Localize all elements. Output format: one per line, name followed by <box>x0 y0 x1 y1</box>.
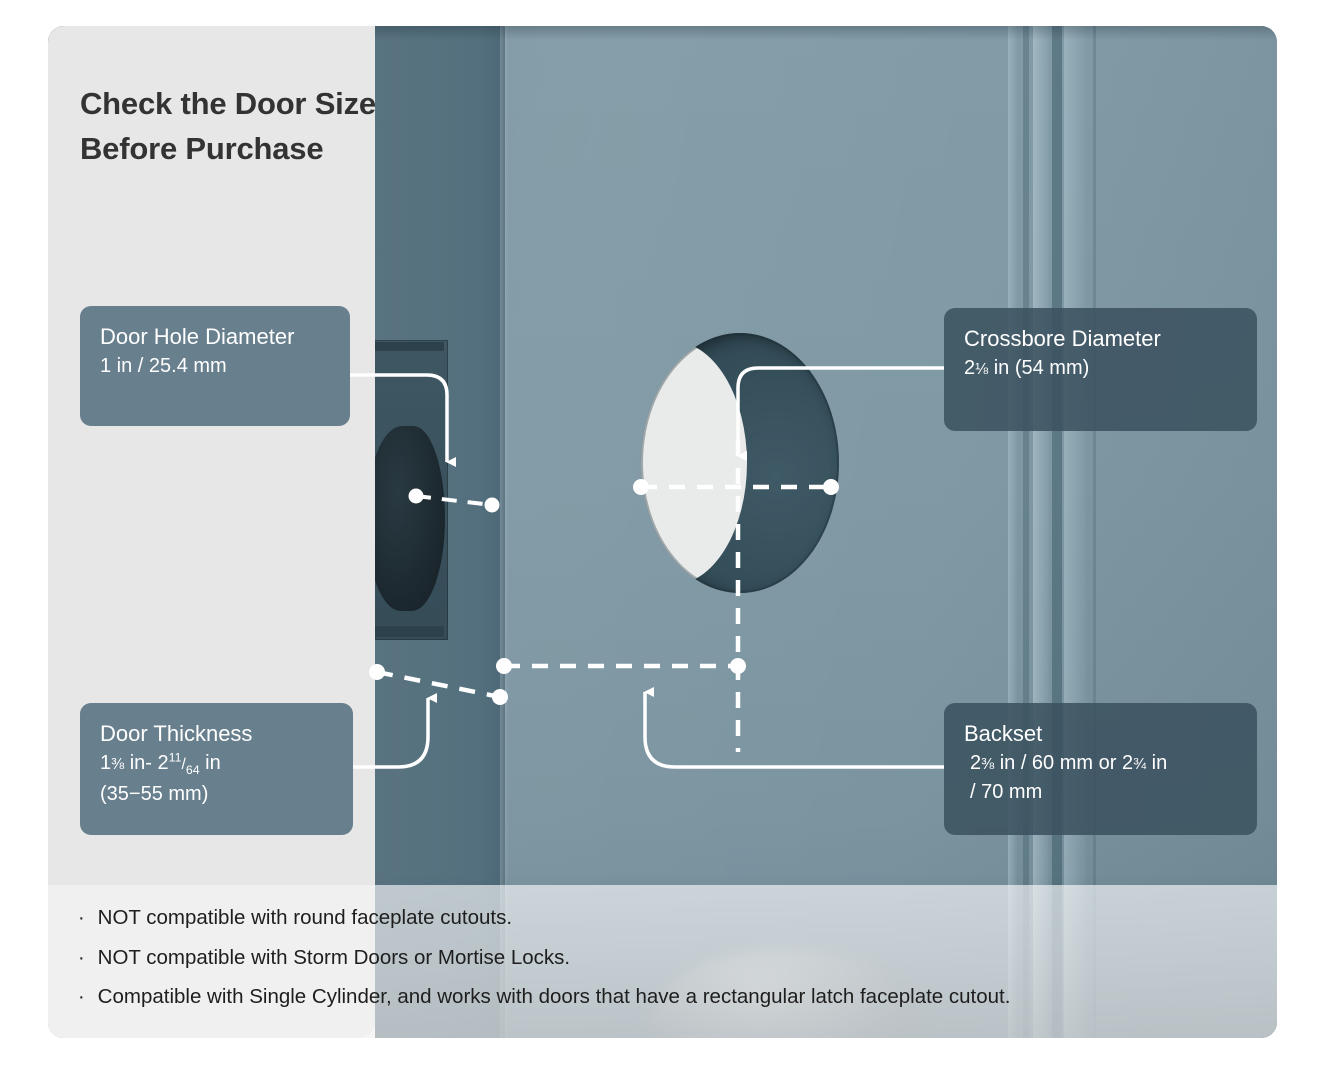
infographic-canvas: Check the Door Size Before Purchase <box>0 0 1324 1078</box>
thickness-v1-suffix: in <box>200 752 221 774</box>
page-title: Check the Door Size Before Purchase <box>80 82 380 172</box>
thickness-v1-prefix: 1 <box>100 752 111 774</box>
crossbore-v-prefix: 2 <box>964 357 975 379</box>
backset-v1-suffix: in <box>1146 752 1167 774</box>
bullet-dot-icon: · <box>78 908 85 928</box>
list-item-label: Compatible with Single Cylinder, and wor… <box>98 987 1011 1008</box>
backset-v1-frac1: ⅜ <box>981 756 994 773</box>
callout-backset-label: Backset <box>964 719 1237 749</box>
callout-door-hole-diameter[interactable]: Door Hole Diameter 1 in / 25.4 mm <box>80 306 350 426</box>
callout-backset-value-line1: 2⅜ in / 60 mm or 2¾ in <box>964 749 1237 778</box>
callout-door-hole-label: Door Hole Diameter <box>100 322 330 352</box>
compatibility-notes: · NOT compatible with round faceplate cu… <box>78 908 1258 1027</box>
backset-v1-mid: in / 60 mm or 2 <box>994 752 1133 774</box>
thickness-v1-mid: in- 2 <box>124 752 168 774</box>
thickness-v1-frac1: ⅜ <box>111 756 124 773</box>
list-item-label: NOT compatible with Storm Doors or Morti… <box>98 948 570 969</box>
latch-bore-hole <box>366 426 445 611</box>
callout-door-thickness[interactable]: Door Thickness 1⅜ in- 211/64 in (35−55 m… <box>80 703 353 835</box>
list-item: · NOT compatible with round faceplate cu… <box>78 908 1258 929</box>
list-item-label: NOT compatible with round faceplate cuto… <box>98 908 512 929</box>
callout-crossbore-diameter[interactable]: Crossbore Diameter 2⅛ in (54 mm) <box>944 308 1257 431</box>
list-item: · NOT compatible with Storm Doors or Mor… <box>78 948 1258 969</box>
callout-door-hole-value: 1 in / 25.4 mm <box>100 352 330 381</box>
crossbore-v-frac: ⅛ <box>975 361 988 378</box>
callout-door-thickness-value-line2: (35−55 mm) <box>100 780 333 809</box>
callout-crossbore-label: Crossbore Diameter <box>964 324 1237 354</box>
callout-backset[interactable]: Backset 2⅜ in / 60 mm or 2¾ in / 70 mm <box>944 703 1257 835</box>
crossbore-v-suffix: in (54 mm) <box>988 357 1089 379</box>
backset-v1-frac2: ¾ <box>1133 756 1146 773</box>
list-item: · Compatible with Single Cylinder, and w… <box>78 987 1258 1008</box>
callout-door-thickness-label: Door Thickness <box>100 719 333 749</box>
callout-crossbore-value: 2⅛ in (54 mm) <box>964 354 1237 383</box>
bullet-dot-icon: · <box>78 948 85 968</box>
thickness-v1-sub: 64 <box>186 763 200 777</box>
thickness-v1-sup: 11 <box>169 750 182 764</box>
callout-door-thickness-value-line1: 1⅜ in- 211/64 in <box>100 749 333 780</box>
callout-backset-value-line2: / 70 mm <box>964 778 1237 807</box>
crossbore-rim <box>641 333 839 593</box>
backset-v1-prefix: 2 <box>970 752 981 774</box>
bullet-dot-icon: · <box>78 987 85 1007</box>
